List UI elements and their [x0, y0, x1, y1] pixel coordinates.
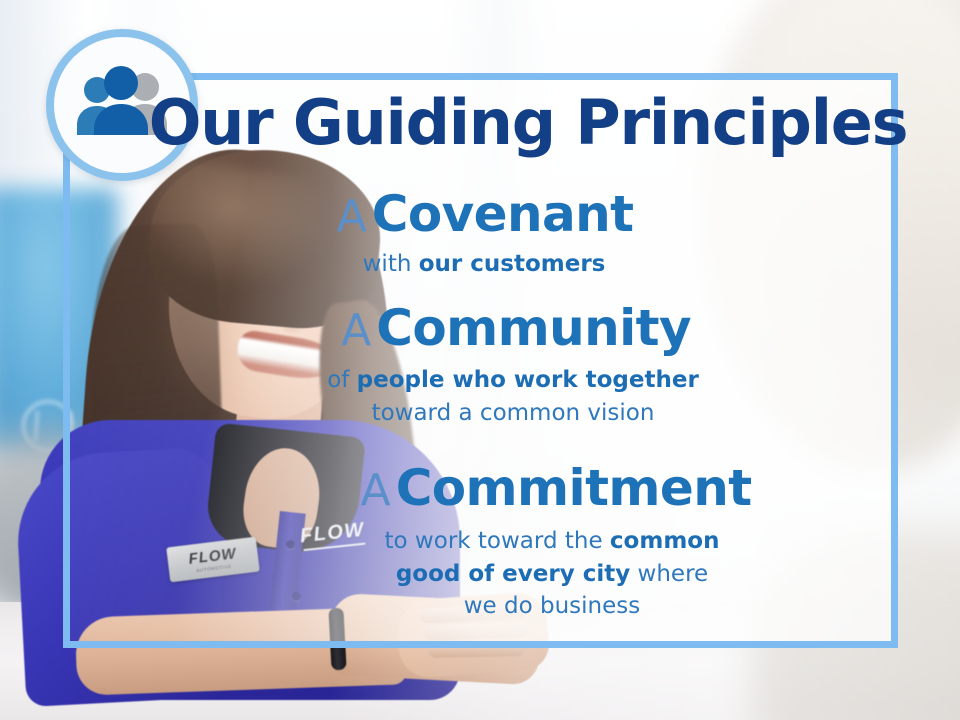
subline-text: toward a common vision	[372, 400, 655, 426]
principle-article: A	[337, 191, 367, 242]
page-title: Our Guiding Principles	[0, 92, 960, 154]
principle-keyword: Covenant	[372, 185, 634, 243]
subline-text: we do business	[464, 593, 641, 619]
principle-subline: we do business	[144, 590, 960, 623]
subline-text: where	[630, 561, 708, 587]
principle-community: A Community of people who work together …	[0, 302, 960, 429]
subline-text: of	[327, 367, 356, 393]
subline-text-bold: good of every city	[396, 561, 630, 587]
subline-text: with	[363, 251, 419, 277]
principle-commitment-heading: A Commitment	[0, 462, 960, 514]
subline-text-bold: people who work together	[357, 367, 699, 393]
principle-covenant-subtext: with our customers	[0, 248, 960, 281]
principle-commitment: A Commitment to work toward the common g…	[0, 462, 960, 623]
principle-community-subtext: of people who work together toward a com…	[0, 364, 960, 429]
poster-canvas: FLOW AUTOMOTIVE FLOW	[0, 0, 960, 720]
principle-subline: good of every city where	[144, 558, 960, 591]
principle-covenant-heading: A Covenant	[0, 188, 960, 240]
principle-article: A	[361, 465, 391, 516]
principle-subline: with our customers	[8, 248, 960, 281]
principle-covenant: A Covenant with our customers	[0, 188, 960, 281]
principle-community-heading: A Community	[0, 302, 960, 354]
principle-subline: to work toward the common	[144, 525, 960, 558]
associate-finger	[428, 641, 524, 658]
subline-text: to work toward the	[385, 528, 610, 554]
subline-text-bold: our customers	[419, 251, 606, 277]
principle-keyword: Commitment	[396, 459, 752, 517]
principle-subline: of people who work together	[66, 364, 960, 397]
principle-subline: toward a common vision	[66, 397, 960, 430]
principle-article: A	[341, 305, 371, 356]
principle-commitment-subtext: to work toward the common good of every …	[0, 525, 960, 623]
principle-keyword: Community	[376, 299, 691, 357]
subline-text-bold: common	[610, 528, 720, 554]
